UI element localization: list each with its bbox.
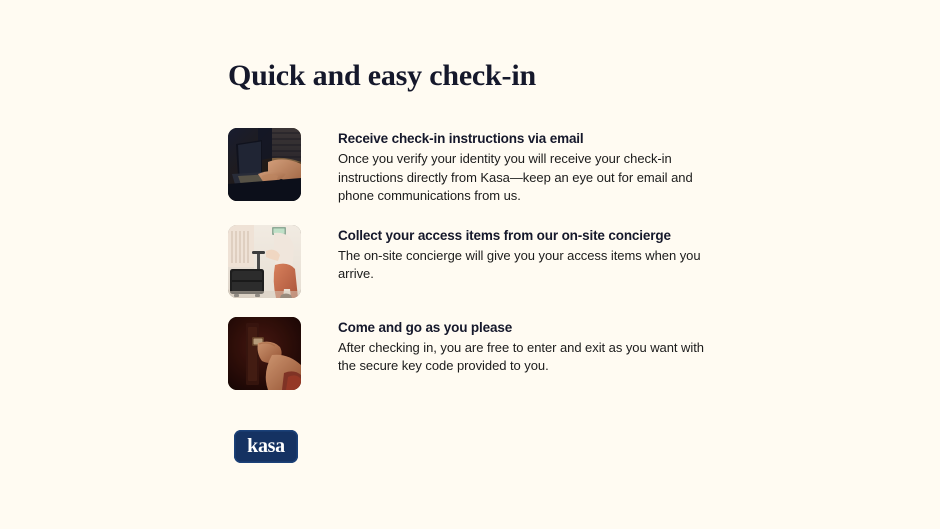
kasa-logo: kasa bbox=[234, 430, 298, 463]
page-header: Quick and easy check-in bbox=[228, 58, 728, 94]
list-item-body: The on-site concierge will give you your… bbox=[338, 247, 710, 284]
page-root: Quick and easy check-in bbox=[0, 0, 940, 529]
step-text: Collect your access items from our on-si… bbox=[338, 225, 710, 284]
page-title: Quick and easy check-in bbox=[228, 58, 728, 94]
list-item-heading: Receive check-in instructions via email bbox=[338, 130, 710, 148]
list-item-heading: Come and go as you please bbox=[338, 319, 710, 337]
kasa-wordmark: kasa bbox=[247, 436, 285, 457]
list-item-body: After checking in, you are free to enter… bbox=[338, 339, 710, 376]
list-item: Come and go as you please After checking… bbox=[228, 317, 728, 390]
hand-pressing-door-keypad-photo bbox=[228, 317, 301, 390]
list-item: Collect your access items from our on-si… bbox=[228, 225, 728, 298]
list-item-body: Once you verify your identity you will r… bbox=[338, 150, 710, 206]
steps-list: Receive check-in instructions via email … bbox=[228, 128, 728, 409]
traveler-with-luggage-photo bbox=[228, 225, 301, 298]
person-typing-on-laptop-photo bbox=[228, 128, 301, 201]
step-text: Come and go as you please After checking… bbox=[338, 317, 710, 376]
list-item-heading: Collect your access items from our on-si… bbox=[338, 227, 710, 245]
list-item: Receive check-in instructions via email … bbox=[228, 128, 728, 206]
step-text: Receive check-in instructions via email … bbox=[338, 128, 710, 206]
